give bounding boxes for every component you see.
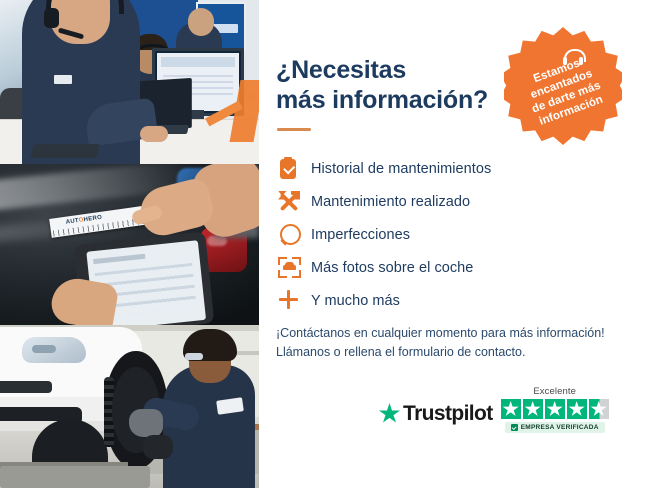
info-banner: AUTOHERO	[0, 0, 650, 488]
trustpilot-wordmark: Trustpilot	[403, 402, 493, 426]
photo-mechanic-wheel	[0, 325, 259, 488]
contact-text: ¡Contáctanos en cualquier momento para m…	[276, 324, 636, 363]
safety-glasses	[185, 353, 203, 360]
foreground-agent-hand	[140, 126, 168, 142]
verified-company-badge: EMPRESA VERIFICADA	[505, 422, 605, 433]
star-3	[545, 399, 565, 419]
contact-line-1: ¡Contáctanos en cualquier momento para m…	[276, 324, 636, 343]
feature-label: Imperfecciones	[311, 227, 410, 243]
trustpilot-logo: Trustpilot	[379, 402, 493, 426]
agent-headset-earcup	[44, 8, 59, 28]
feature-label: Historial de mantenimientos	[311, 161, 491, 177]
feature-list: Historial de mantenimientos Mantenimient…	[275, 152, 635, 317]
content-panel: ¿Necesitas más información? Estamos enca…	[259, 0, 650, 488]
keyboard	[30, 144, 99, 158]
feature-item-mucho-mas: Y mucho más	[275, 284, 635, 317]
feature-label: Más fotos sobre el coche	[311, 260, 473, 276]
title-underline-rule	[277, 128, 311, 131]
magnifier-icon	[275, 222, 311, 248]
feature-item-fotos: Más fotos sobre el coche	[275, 251, 635, 284]
mechanic-glove-upper	[129, 409, 163, 437]
contact-line-2: Llámanos o rellena el formulario de cont…	[276, 343, 636, 362]
trustpilot-rating: Excelente EMPRESA VERIFICADA	[501, 386, 609, 433]
background-person-3-head	[188, 8, 214, 36]
star-4	[567, 399, 587, 419]
wrench-screwdriver-icon	[275, 189, 311, 215]
feature-item-mantenimiento: Mantenimiento realizado	[275, 185, 635, 218]
headlight	[22, 337, 86, 363]
star-5-half	[589, 399, 609, 419]
promo-starburst-badge: Estamos encantados de darte más informac…	[504, 27, 622, 145]
car-photo-frame-icon	[275, 255, 311, 281]
feature-item-imperfecciones: Imperfecciones	[275, 218, 635, 251]
photo-car-inspection: AUTOHERO	[0, 164, 259, 325]
feature-label: Y mucho más	[311, 293, 400, 309]
verified-label: EMPRESA VERIFICADA	[521, 424, 599, 431]
lift-platform	[0, 466, 150, 488]
page-title-line-1: ¿Necesitas	[276, 56, 526, 86]
verified-check-icon	[511, 424, 518, 431]
clipboard-check-icon	[275, 156, 311, 182]
page-title-line-2: más información?	[276, 86, 526, 116]
star-1	[501, 399, 521, 419]
feature-label: Mantenimiento realizado	[311, 194, 470, 210]
star-2	[523, 399, 543, 419]
agent-name-tag	[54, 75, 72, 84]
trustpilot-star-icon	[379, 403, 400, 424]
plus-icon	[275, 288, 311, 314]
trustpilot-star-rating	[501, 399, 609, 419]
feature-item-historial: Historial de mantenimientos	[275, 152, 635, 185]
upper-grille	[0, 381, 52, 393]
photo-call-center	[0, 0, 259, 164]
photo-column: AUTOHERO	[0, 0, 259, 488]
mechanic-glove-lower	[143, 435, 173, 459]
trustpilot-rating-label: Excelente	[533, 386, 576, 397]
page-title: ¿Necesitas más información?	[276, 56, 526, 115]
trustpilot-widget[interactable]: Trustpilot Excelente EMPRESA VERIFICADA	[379, 386, 639, 433]
